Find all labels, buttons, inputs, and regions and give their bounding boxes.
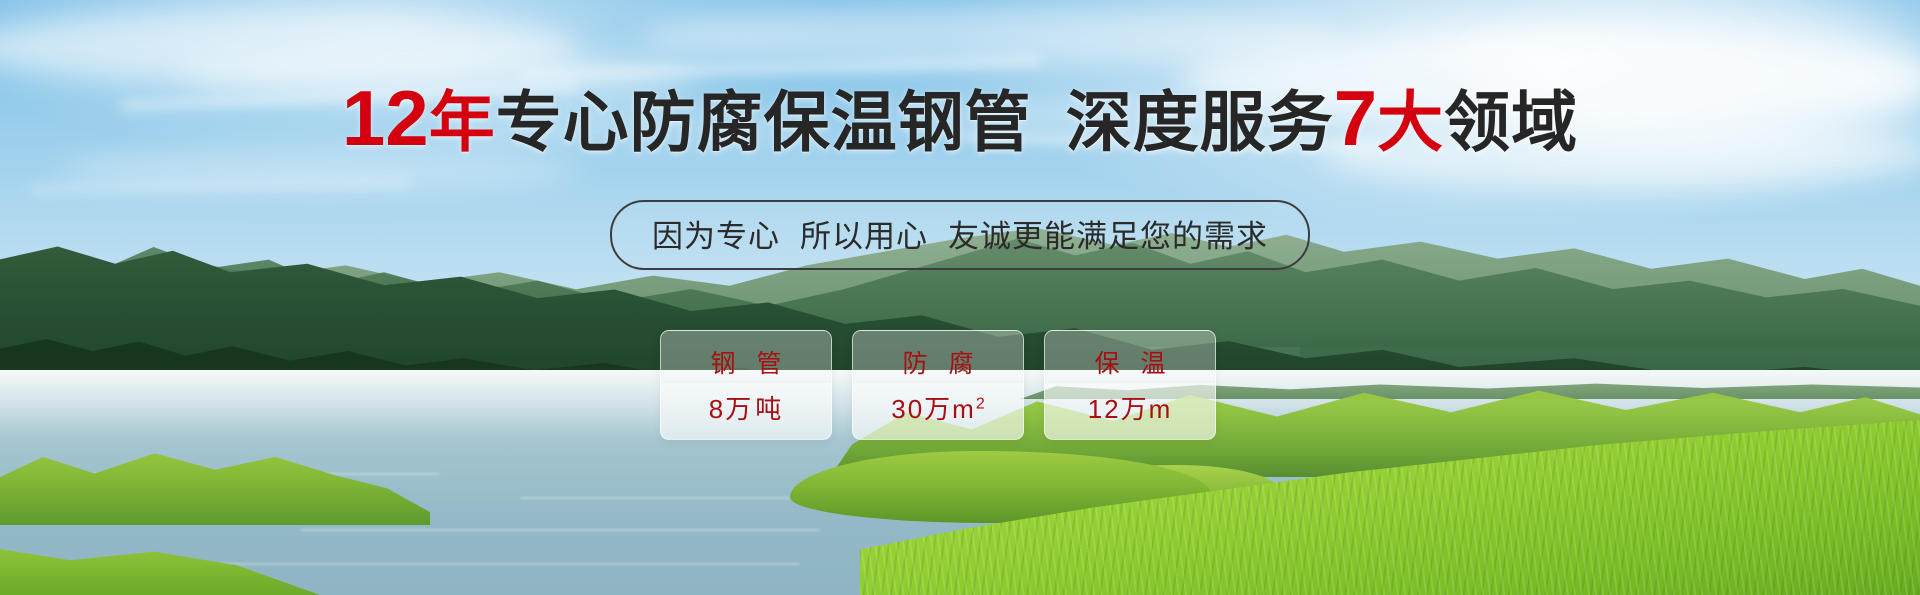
stat-card-value: 8万吨: [709, 389, 784, 426]
stat-card-value: 30万m2: [891, 389, 985, 426]
stat-value-wan: 万: [924, 394, 952, 424]
stat-card-title: 防 腐: [896, 344, 981, 380]
headline-fields-text: 领域: [1444, 85, 1578, 159]
headline-fields-da: 大: [1377, 85, 1444, 159]
headline-main-text: 专心防腐保温钢管: [496, 85, 1032, 159]
subtitle-part-3: 友诚更能满足您的需求: [948, 219, 1268, 254]
headline-service-text: 深度服务: [1066, 85, 1334, 159]
stat-value-number: 12: [1088, 394, 1121, 424]
subtitle-part-1: 因为专心: [652, 219, 780, 254]
stat-value-unit: m: [952, 394, 976, 424]
stat-card-title: 保 温: [1088, 344, 1173, 380]
headline-years-number: 12: [342, 74, 429, 162]
stat-value-unit: 吨: [755, 394, 783, 424]
stat-card-value: 12万m: [1088, 389, 1173, 426]
stat-value-wan: 万: [725, 394, 755, 424]
stat-card-insulation[interactable]: 保 温 12万m: [1044, 330, 1216, 440]
stat-value-number: 30: [891, 394, 924, 424]
stat-value-wan: 万: [1121, 394, 1149, 424]
banner-headline: 12年专心防腐保温钢管深度服务7大领域: [0, 78, 1920, 160]
stat-card-anticorrosion[interactable]: 防 腐 30万m2: [852, 330, 1024, 440]
stat-card-group: 钢 管 8万吨 防 腐 30万m2 保 温 12万m: [660, 330, 1216, 440]
headline-years-unit: 年: [429, 85, 496, 159]
stat-value-unit: m: [1149, 394, 1173, 424]
subtitle-part-2: 所以用心: [800, 219, 928, 254]
headline-fields-number: 7: [1334, 74, 1377, 162]
stat-value-number: 8: [709, 394, 725, 424]
stat-value-superscript: 2: [976, 395, 985, 412]
stat-card-steel-pipe[interactable]: 钢 管 8万吨: [660, 330, 832, 440]
banner-subtitle-pill: 因为专心所以用心友诚更能满足您的需求: [610, 200, 1310, 270]
stat-card-title: 钢 管: [704, 344, 789, 380]
promo-banner: 12年专心防腐保温钢管深度服务7大领域 因为专心所以用心友诚更能满足您的需求 钢…: [0, 0, 1920, 595]
